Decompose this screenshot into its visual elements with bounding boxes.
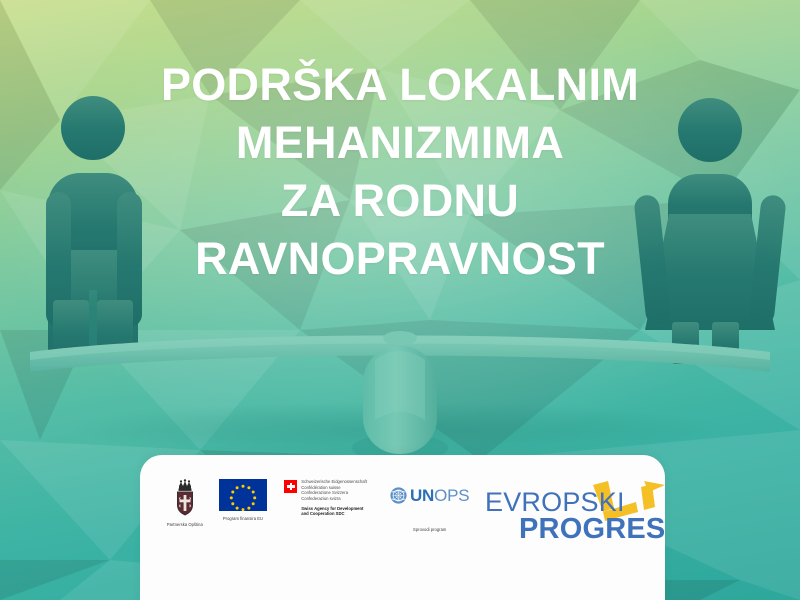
- poster-canvas: PODRŠKA LOKALNIM MEHANIZMIMA ZA RODNU RA…: [0, 0, 800, 600]
- logo-european-union: Program finansira EU: [212, 479, 275, 522]
- female-pictogram: [633, 98, 786, 364]
- logo-swiss-confederation: Schweizerische Eidgenossenschaft Confédé…: [284, 479, 380, 517]
- logo-evropski-progres: EVROPSKI PROGRES: [479, 479, 665, 547]
- swiss-line-4: Confederaziun svizra: [301, 496, 367, 502]
- unops-wordmark: UNOPS: [410, 487, 469, 504]
- logo-coat-of-arms: Partnerska Opština: [160, 479, 210, 528]
- male-pictogram: [46, 96, 142, 362]
- coat-of-arms-icon: [172, 479, 198, 517]
- eu-flag-icon: [219, 479, 267, 511]
- logo-row: Partnerska Opština: [140, 455, 665, 560]
- coat-of-arms-caption: Partnerska Opština: [167, 522, 203, 528]
- unops-caption: Sprovodi program: [413, 527, 446, 533]
- seesaw-fulcrum: [352, 346, 448, 462]
- evropski-progres-lockup: EVROPSKI PROGRES: [479, 481, 665, 547]
- unops-ops: OPS: [434, 486, 469, 505]
- sdc-line-2: and Cooperation SDC: [301, 511, 367, 517]
- swiss-cross-icon: [284, 480, 297, 493]
- unops-lockup: UNOPS: [390, 479, 469, 511]
- swiss-line-1: Schweizerische Eidgenossenschaft: [301, 479, 367, 485]
- logo-card: Partnerska Opština: [140, 455, 665, 600]
- logo-unops: UNOPS Sprovodi program: [386, 479, 473, 533]
- eu-caption: Program finansira EU: [223, 516, 263, 522]
- progres-word: PROGRES: [519, 515, 665, 544]
- un-emblem-icon: [390, 487, 407, 504]
- plank-center-nub: [383, 331, 417, 345]
- unops-un: UN: [410, 486, 434, 505]
- swiss-text-block: Schweizerische Eidgenossenschaft Confédé…: [301, 479, 367, 517]
- evropski-word: EVROPSKI: [485, 489, 625, 516]
